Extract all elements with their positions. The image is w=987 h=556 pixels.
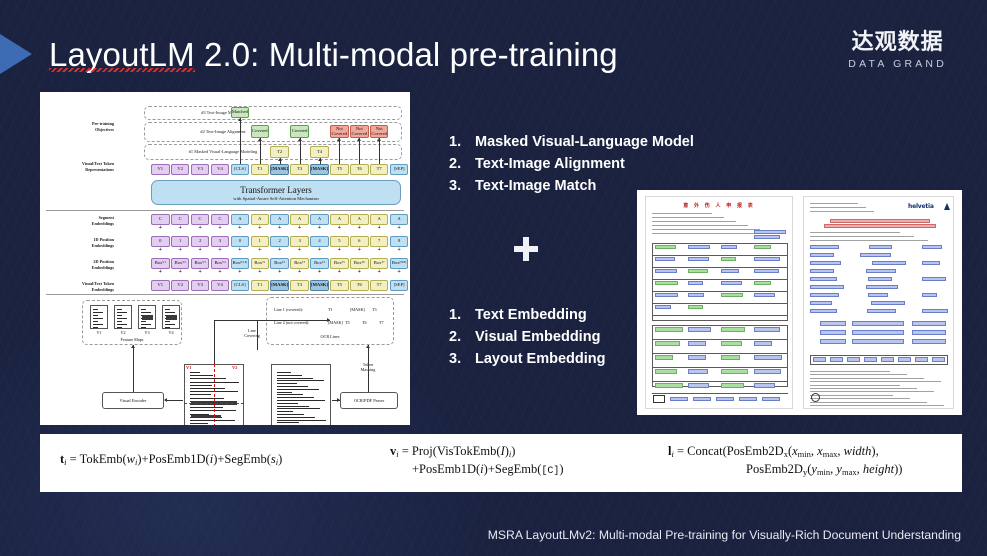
- token-embedding-8: [MASK]: [310, 280, 329, 291]
- plus-glyph-0-0: +: [151, 225, 170, 231]
- brand-name-chinese: 达观数据: [848, 30, 947, 55]
- left-doc-field-17: [688, 293, 704, 297]
- objective-item-label-2: Text-Image Match: [475, 175, 596, 197]
- arrow-to-notcovered-2: [379, 138, 380, 164]
- ocr-line-2-token-2: T6: [362, 320, 367, 325]
- token-embedding-0: V1: [151, 280, 170, 291]
- left-doc-grid2-row-3: [652, 367, 788, 368]
- segment-embedding-3: C: [211, 214, 230, 225]
- plus-glyph-2-9: +: [330, 269, 349, 275]
- pos1d-embedding-9: 5: [330, 236, 349, 247]
- left-doc-grid-row-4: [652, 291, 788, 292]
- plus-glyph-0-9: +: [330, 225, 349, 231]
- segment-embedding-9: A: [330, 214, 349, 225]
- token-embedding-12: [SEP]: [390, 280, 409, 291]
- right-doc-label-4: [810, 277, 837, 281]
- token-embedding-4: [CLS]: [231, 280, 250, 291]
- side-label-pos2d-embedding: 2D PositionEmbeddings: [46, 259, 114, 270]
- arrow-cls-to-matched-head: [238, 118, 242, 121]
- left-doc-footer-field-1: [693, 397, 711, 401]
- right-doc-body-5: [810, 388, 917, 389]
- pos2d-embedding-11: BoxT7: [370, 258, 389, 269]
- not-covered-badge-2: NotCovered: [370, 125, 389, 138]
- left-doc-field2-11: [754, 355, 782, 360]
- token-representation-2: V3: [191, 164, 210, 175]
- right-doc-red-banner-1: [824, 224, 936, 228]
- token-representation-9: T5: [330, 164, 349, 175]
- pos1d-embedding-8: 4: [310, 236, 329, 247]
- left-doc-field-19: [754, 293, 775, 297]
- pos1d-embedding-0: 0: [151, 236, 170, 247]
- plus-glyph-0-5: +: [251, 225, 270, 231]
- segment-embedding-11: A: [370, 214, 389, 225]
- token-representation-5: T1: [251, 164, 270, 175]
- line-covering-bridge: [214, 320, 330, 321]
- left-doc-field-18: [721, 293, 743, 297]
- objectives-list: 1.Masked Visual-Language Model2.Text-Ima…: [449, 131, 694, 197]
- segment-embedding-12: A: [390, 214, 409, 225]
- right-doc-intro-0: [810, 232, 900, 233]
- left-doc-field2-12: [655, 369, 677, 374]
- left-doc-footer-field-0: [670, 397, 688, 401]
- left-doc-subtext-1: [652, 217, 724, 218]
- pos2d-embedding-10: BoxT6: [350, 258, 369, 269]
- left-doc-field-12: [655, 281, 678, 285]
- plus-glyph-0-8: +: [310, 225, 329, 231]
- left-doc-field-8: [655, 269, 677, 273]
- left-doc-field-7: [754, 257, 780, 261]
- pos1d-embedding-4: 0: [231, 236, 250, 247]
- slide-title: LayoutLM 2.0: Multi-modal pre-training: [49, 36, 618, 74]
- feature-map-thumb-3: [162, 305, 180, 329]
- right-doc-body-3: [810, 381, 941, 382]
- ocr-line-2-token-1: T5: [345, 320, 350, 325]
- slide-title-misspelled-word: LayoutLM: [49, 36, 195, 73]
- right-doc-label-6: [810, 293, 839, 297]
- segment-embedding-10: A: [350, 214, 369, 225]
- embedding-item-number-0: 1.: [449, 304, 475, 326]
- token-embedding-1: V2: [171, 280, 190, 291]
- not-covered-badge-1: NotCovered: [350, 125, 369, 138]
- right-doc-body-6: [810, 391, 934, 392]
- objective-item-label-0: Masked Visual-Language Model: [475, 131, 694, 153]
- left-doc-logo: [653, 395, 665, 403]
- masked-prediction-1: T4: [310, 146, 329, 158]
- arrow-parser-to-ocrlines-head: [366, 345, 370, 348]
- plus-glyph-0-7: +: [290, 225, 309, 231]
- right-doc-label-5: [810, 285, 844, 289]
- left-doc-field2-4: [655, 341, 680, 346]
- feature-map-thumb-0: [90, 305, 108, 329]
- pos2d-embedding-3: BoxV4: [211, 258, 230, 269]
- left-doc-field2-6: [721, 341, 742, 346]
- token-embedding-9: T5: [330, 280, 349, 291]
- not-covered-badge-0: NotCovered: [330, 125, 349, 138]
- right-doc-value-5: [866, 285, 898, 289]
- arrow-to-masked-0-head: [278, 158, 282, 161]
- separator-bottom: [46, 294, 404, 295]
- right-doc-value-7: [871, 301, 905, 305]
- feature-map-label-1: V2: [114, 330, 132, 335]
- left-doc-field-5: [688, 257, 709, 261]
- token-embedding-7: T3: [290, 280, 309, 291]
- ocr-line-1-label: Line 1 (covered):: [274, 307, 303, 312]
- left-doc-subtext-2: [652, 221, 736, 222]
- token-representation-0: V1: [151, 164, 170, 175]
- pos1d-embedding-12: 8: [390, 236, 409, 247]
- plus-glyph-2-0: +: [151, 269, 170, 275]
- plus-glyph-0-2: +: [191, 225, 210, 231]
- left-doc-field-21: [688, 305, 703, 309]
- right-doc-table-cell-0: [813, 357, 826, 362]
- right-doc-body-2: [810, 378, 924, 379]
- token-representation-3: V4: [211, 164, 230, 175]
- helvetia-triangle-icon: [944, 203, 950, 210]
- segment-embedding-2: C: [191, 214, 210, 225]
- plus-glyph-2-7: +: [290, 269, 309, 275]
- plus-glyph-1-12: +: [390, 247, 409, 253]
- plus-glyph-2-10: +: [350, 269, 369, 275]
- plus-glyph-2-12: +: [390, 269, 409, 275]
- left-doc-field2-14: [721, 369, 748, 374]
- token-representation-11: T7: [370, 164, 389, 175]
- objective-item-1: 2.Text-Image Alignment: [449, 153, 694, 175]
- plus-glyph-0-12: +: [390, 225, 409, 231]
- segment-embedding-0: C: [151, 214, 170, 225]
- token-representation-1: V2: [171, 164, 190, 175]
- arrow-to-notcovered-0: [339, 138, 340, 164]
- arrow-to-notcovered-1: [359, 138, 360, 164]
- transformer-layers-block: Transformer Layerswith Spatial-Aware Sel…: [151, 180, 401, 205]
- arrow-to-masked-1-head: [318, 158, 322, 161]
- ocr-line-1-token-0: T1: [328, 307, 333, 312]
- feature-map-thumb-2: [138, 305, 156, 329]
- right-doc-intro-2: [810, 240, 928, 241]
- document-example-left: 意 外 伤 人 申 报 表: [645, 196, 793, 409]
- left-doc-field-16: [655, 293, 678, 297]
- left-doc-field2-19: [754, 383, 775, 388]
- left-doc-field-14: [721, 281, 742, 285]
- left-doc-field2-8: [655, 355, 673, 360]
- right-doc-section-opts-2: [912, 339, 946, 344]
- right-doc-body-7: [810, 395, 893, 396]
- left-doc-subtext-3: [652, 225, 748, 226]
- right-doc-section-opts-1: [912, 330, 946, 335]
- document-example-right: helvetia: [803, 196, 954, 409]
- segment-embedding-8: A: [310, 214, 329, 225]
- left-doc-field2-7: [754, 341, 772, 346]
- right-doc-label-2: [810, 261, 841, 265]
- right-doc-value2-4: [922, 277, 946, 281]
- arrow-to-covered-0-head: [258, 138, 262, 141]
- right-doc-value-2: [872, 261, 906, 265]
- right-doc-label-1: [810, 253, 834, 257]
- covered-badge-1: Covered: [290, 125, 309, 138]
- ocr-pdf-parser-box: OCR/PDF Parser: [340, 392, 398, 409]
- plus-glyph-1-0: +: [151, 247, 170, 253]
- right-doc-header-text-2: [810, 211, 874, 212]
- right-doc-value2-6: [922, 293, 937, 297]
- plus-glyph-2-6: +: [270, 269, 289, 275]
- left-doc-blue-tag-1: [754, 235, 780, 239]
- right-doc-table-cell-2: [847, 357, 860, 362]
- right-doc-section-text-2: [852, 339, 904, 344]
- objective-item-number-2: 3.: [449, 175, 475, 197]
- right-doc-header-text-0: [810, 203, 858, 204]
- arrow-to-notcovered-2-head: [377, 138, 381, 141]
- token-representation-6: [MASK]: [270, 164, 289, 175]
- plus-glyph-1-5: +: [251, 247, 270, 253]
- transformer-title: Transformer Layers: [240, 185, 311, 195]
- objective-item-number-1: 2.: [449, 153, 475, 175]
- right-doc-value-4: [868, 277, 892, 281]
- plus-glyph-2-5: +: [251, 269, 270, 275]
- plus-glyph-1-10: +: [350, 247, 369, 253]
- left-doc-grid-row-5: [652, 303, 788, 304]
- plus-symbol-icon: [514, 237, 538, 261]
- document-page-plain: [271, 364, 331, 425]
- embedding-item-number-1: 2.: [449, 326, 475, 348]
- left-doc-field2-2: [721, 327, 745, 332]
- left-accent-arrow-icon: [0, 34, 32, 74]
- left-doc-field-9: [688, 269, 708, 273]
- crosshair-vertical: [214, 364, 215, 425]
- left-doc-grid-row-1: [652, 255, 788, 256]
- left-doc-grid2-row-1: [652, 339, 788, 340]
- brand-name-english: DATA GRAND: [848, 58, 947, 70]
- line-covering-drop: [257, 320, 258, 350]
- right-doc-section-text-1: [852, 330, 904, 335]
- right-doc-section-opts-0: [912, 321, 946, 326]
- right-doc-body-10: [810, 405, 944, 406]
- left-doc-footer-field-4: [762, 397, 780, 401]
- segment-embedding-5: A: [251, 214, 270, 225]
- right-doc-table-cell-5: [898, 357, 911, 362]
- pos1d-embedding-2: 2: [191, 236, 210, 247]
- plus-glyph-0-10: +: [350, 225, 369, 231]
- feature-maps-caption: Feature Maps: [92, 337, 172, 342]
- brand-logo: 达观数据 DATA GRAND: [848, 30, 947, 70]
- pos1d-embedding-6: 2: [270, 236, 289, 247]
- left-doc-grid-row-0: [652, 243, 788, 244]
- plus-glyph-1-4: +: [231, 247, 250, 253]
- embedding-item-label-2: Layout Embedding: [475, 348, 606, 370]
- right-doc-label-3: [810, 269, 834, 273]
- segment-embedding-4: A: [231, 214, 250, 225]
- right-doc-red-banner-0: [830, 219, 930, 223]
- segment-embedding-6: A: [270, 214, 289, 225]
- plus-glyph-0-6: +: [270, 225, 289, 231]
- pos2d-embedding-12: Box[SEP]: [390, 258, 409, 269]
- left-doc-field2-16: [655, 383, 683, 388]
- line-covering-label: LineCovering: [235, 328, 269, 339]
- left-doc-field-1: [688, 245, 710, 249]
- arrow-to-covered-0: [260, 138, 261, 164]
- token-representation-4: [CLS]: [231, 164, 250, 175]
- objective-item-0: 1.Masked Visual-Language Model: [449, 131, 694, 153]
- visual-encoder-box: Visual Encoder: [102, 392, 164, 409]
- arrow-doc-to-parser-head: [337, 398, 340, 402]
- right-doc-value-3: [866, 269, 896, 273]
- document-examples-figure: 意 外 伤 人 申 报 表 helvetia: [637, 190, 962, 415]
- token-representation-8: [MASK]: [310, 164, 329, 175]
- arrow-parser-to-ocrlines: [368, 345, 369, 392]
- left-doc-field2-1: [688, 327, 711, 332]
- left-doc-field2-17: [688, 383, 709, 388]
- right-doc-table-cell-4: [881, 357, 894, 362]
- left-doc-field-4: [655, 257, 675, 261]
- left-doc-footer-field-2: [716, 397, 734, 401]
- left-doc-grid-row-3: [652, 279, 788, 280]
- matched-badge: Matched: [231, 107, 250, 118]
- right-doc-body-1: [810, 374, 907, 375]
- right-doc-value2-8: [922, 309, 948, 313]
- masked-prediction-0: T2: [270, 146, 289, 158]
- pos2d-embedding-9: BoxT5: [330, 258, 349, 269]
- embeddings-list: 1.Text Embedding2.Visual Embedding3.Layo…: [449, 304, 606, 370]
- right-doc-body-9: [810, 402, 927, 403]
- covered-badge-0: Covered: [251, 125, 270, 138]
- embedding-item-2: 3.Layout Embedding: [449, 348, 606, 370]
- embedding-item-1: 2.Visual Embedding: [449, 326, 606, 348]
- left-doc-field-3: [754, 245, 771, 249]
- plus-glyph-1-3: +: [211, 247, 230, 253]
- left-doc-field-11: [754, 269, 779, 273]
- pos1d-embedding-10: 6: [350, 236, 369, 247]
- plus-glyph-2-11: +: [370, 269, 389, 275]
- footer-caption: MSRA LayoutLMv2: Multi-modal Pre-trainin…: [488, 528, 961, 542]
- arrow-to-covered-1: [300, 138, 301, 164]
- formula-text-embedding: ti = TokEmb(wi)+PosEmb1D(i)+SegEmb(si): [60, 450, 282, 468]
- plus-glyph-0-1: +: [171, 225, 190, 231]
- right-doc-body-0: [810, 371, 890, 372]
- right-doc-footer-seal-icon: [811, 393, 820, 402]
- left-doc-subtext-0: [652, 213, 712, 214]
- embedding-item-label-0: Text Embedding: [475, 304, 587, 326]
- arrow-encoder-to-featuremaps: [133, 345, 134, 392]
- pos2d-embedding-4: Box[CLS]: [231, 258, 250, 269]
- right-doc-body-4: [810, 385, 900, 386]
- formula-layout-embedding: li = Concat(PosEmb2Dx(xmin, xmax, width)…: [668, 442, 902, 479]
- right-doc-value2-2: [922, 261, 940, 265]
- left-doc-field-6: [721, 257, 736, 261]
- side-label-token-embedding: Visual/Text TokenEmbeddings: [46, 281, 114, 292]
- right-doc-label-0: [810, 245, 839, 249]
- token-representation-12: [SEP]: [390, 164, 409, 175]
- objective-item-label-1: Text-Image Alignment: [475, 153, 625, 175]
- token-embedding-5: T1: [251, 280, 270, 291]
- plus-glyph-1-11: +: [370, 247, 389, 253]
- plus-glyph-2-8: +: [310, 269, 329, 275]
- token-embedding-6: [MASK]: [270, 280, 289, 291]
- left-doc-field-15: [754, 281, 771, 285]
- pos2d-embedding-8: BoxT4: [310, 258, 329, 269]
- embedding-item-number-2: 3.: [449, 348, 475, 370]
- token-embedding-10: T6: [350, 280, 369, 291]
- left-doc-footer-field-3: [739, 397, 757, 401]
- right-doc-label-7: [810, 301, 832, 305]
- pos2d-embedding-2: BoxV3: [191, 258, 210, 269]
- objective-box-masked-visual-language-modeling-label: #1 Masked Visual-Language Modeling: [158, 149, 288, 154]
- left-doc-field2-0: [655, 327, 683, 332]
- left-doc-grid2-row-4: [652, 381, 788, 382]
- right-doc-intro-1: [810, 236, 914, 237]
- left-doc-blue-tag-0: [754, 230, 786, 234]
- right-doc-value-6: [868, 293, 889, 297]
- quadrant-mark-1: V2: [232, 365, 237, 370]
- plus-glyph-1-6: +: [270, 247, 289, 253]
- right-doc-section-0: [820, 321, 846, 326]
- line-covering-riser: [214, 320, 215, 364]
- right-doc-value-1: [860, 253, 891, 257]
- plus-glyph-0-4: +: [231, 225, 250, 231]
- left-doc-field2-9: [688, 355, 706, 360]
- right-doc-section-2: [820, 339, 846, 344]
- feature-map-label-3: V4: [162, 330, 180, 335]
- objective-box-text-image-matching-label: #3 Text-Image Matching: [158, 110, 288, 115]
- embedding-item-0: 1.Text Embedding: [449, 304, 606, 326]
- plus-glyph-1-2: +: [191, 247, 210, 253]
- arrow-cls-to-matched: [240, 118, 241, 164]
- plus-glyph-1-7: +: [290, 247, 309, 253]
- left-doc-field-0: [655, 245, 676, 249]
- pos2d-embedding-0: BoxV1: [151, 258, 170, 269]
- left-doc-grid-row-2: [652, 267, 788, 268]
- ocr-line-2-token-0: [MASK]: [328, 320, 343, 325]
- arrow-encoder-to-featuremaps-head: [131, 345, 135, 348]
- arrow-doc-to-encoder-head: [164, 398, 167, 402]
- pos2d-embedding-7: BoxT3: [290, 258, 309, 269]
- pos1d-embedding-1: 1: [171, 236, 190, 247]
- plus-glyph-0-11: +: [370, 225, 389, 231]
- objective-item-number-0: 1.: [449, 131, 475, 153]
- ocr-line-1-token-1: [MASK]: [350, 307, 365, 312]
- ocr-line-1-token-2: T3: [372, 307, 377, 312]
- token-embedding-2: V3: [191, 280, 210, 291]
- side-label-visual-text-token-representations: Visual/Text TokenRepresentations: [46, 161, 114, 172]
- architecture-figure: Pre-trainingObjectivesVisual/Text TokenR…: [40, 92, 410, 425]
- right-doc-label-8: [810, 309, 837, 313]
- pos2d-embedding-6: BoxT2: [270, 258, 289, 269]
- pos1d-embedding-11: 7: [370, 236, 389, 247]
- token-representation-7: T3: [290, 164, 309, 175]
- plus-glyph-1-8: +: [310, 247, 329, 253]
- right-doc-value-0: [869, 245, 892, 249]
- right-doc-table-cell-6: [915, 357, 928, 362]
- plus-glyph-2-1: +: [171, 269, 190, 275]
- left-doc-grid2-row-2: [652, 353, 788, 354]
- right-doc-header-text-1: [810, 207, 866, 208]
- plus-glyph-2-2: +: [191, 269, 210, 275]
- left-doc-field2-10: [721, 355, 740, 360]
- quadrant-mark-0: V1: [186, 365, 191, 370]
- separator-top: [46, 210, 404, 211]
- left-doc-field2-3: [754, 327, 780, 332]
- left-doc-field2-13: [688, 369, 708, 374]
- token-embedding-3: V4: [211, 280, 230, 291]
- embedding-item-label-1: Visual Embedding: [475, 326, 600, 348]
- formula-visual-embedding: vi = Proj(VisTokEmb(I)i)+PosEmb1D(i)+Seg…: [390, 442, 564, 480]
- formula-band: ti = TokEmb(wi)+PosEmb1D(i)+SegEmb(si) v…: [40, 434, 962, 492]
- line-covering-bridge-head: [327, 318, 330, 322]
- ocr-lines-caption: OCR Lines: [290, 334, 370, 339]
- left-doc-grid-row-6: [652, 315, 788, 316]
- right-doc-brand: helvetia: [908, 203, 934, 210]
- left-doc-grid2-row-0: [652, 325, 788, 326]
- plus-glyph-0-3: +: [211, 225, 230, 231]
- right-doc-section-1: [820, 330, 846, 335]
- transformer-subtitle: with Spatial-Aware Self-Attention Mechan…: [233, 196, 318, 201]
